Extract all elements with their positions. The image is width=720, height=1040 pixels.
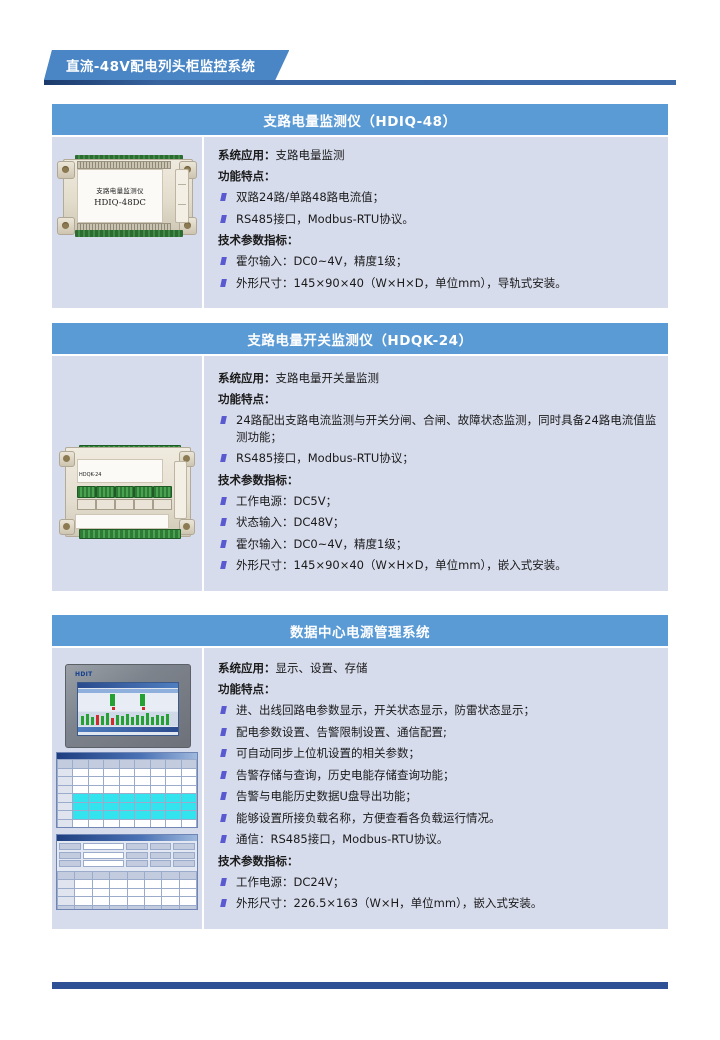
connector-2 <box>96 486 115 498</box>
spec-label: 系统应用：支路电量开关量监测 <box>218 370 658 386</box>
alarm-dot-left <box>112 707 115 710</box>
device-label-line2: HDIQ-48DC <box>94 198 146 208</box>
terminal-header-top <box>77 161 171 169</box>
section-text-hdqk-24: 系统应用：支路电量开关量监测 功能特点： 24路配出支路电流监测与开关分闸、合闸… <box>204 356 668 591</box>
bullet-icon <box>220 257 227 265</box>
brand-logo: HDIT <box>75 671 93 678</box>
bullet-icon <box>220 728 227 736</box>
screen-bargraph <box>78 712 178 726</box>
product-image-power-mgmt: HDIT <box>52 648 204 929</box>
dip-switch-5 <box>153 499 172 510</box>
spec-label: 功能特点： <box>218 168 658 184</box>
section-hdqk-24: 支路电量开关监测仪（HDQK-24） HDQK-24 <box>52 323 668 591</box>
list-item: RS485接口，Modbus-RTU协议； <box>218 450 658 467</box>
spec-label: 功能特点： <box>218 681 658 697</box>
spec-label: 系统应用：支路电量监测 <box>218 147 658 163</box>
page-banner: 直流-48V配电列头柜监控系统 <box>44 50 289 80</box>
connector-3 <box>115 486 134 498</box>
spec-label: 技术参数指标： <box>218 232 658 248</box>
screenshot-energy-table <box>56 752 198 828</box>
bullet-icon <box>220 279 227 287</box>
product-image-hdiq-48: 支路电量监测仪 HDIQ-48DC <box>52 137 204 308</box>
banner-title: 直流-48V配电列头柜监控系统 <box>44 50 289 80</box>
list-item: 双路24路/单路48路电流值； <box>218 189 658 206</box>
list-item: RS485接口，Modbus-RTU协议。 <box>218 211 658 228</box>
din-clip <box>175 169 189 223</box>
section-title: 支路电量监测仪（HDIQ-48） <box>52 104 668 135</box>
bullet-icon <box>220 792 227 800</box>
breaker-bar-right <box>140 694 145 706</box>
bullet-icon <box>220 878 227 886</box>
spec-label: 技术参数指标： <box>218 853 658 869</box>
section-hdiq-48: 支路电量监测仪（HDIQ-48） 支路电量监测仪 HDIQ-48DC <box>52 104 668 308</box>
device-faceplate-label: 支路电量监测仪 HDIQ-48DC <box>77 169 163 223</box>
bullet-icon <box>220 518 227 526</box>
list-item: 工作电源：DC5V； <box>218 493 658 510</box>
bullet-icon <box>220 416 227 424</box>
bullet-icon <box>220 835 227 843</box>
device-label-line1: 支路电量监测仪 <box>96 185 144 195</box>
list-item: 工作电源：DC24V； <box>218 874 658 891</box>
section-body: HDIT <box>52 646 668 929</box>
list-item: 外形尺寸：145×90×40（W×H×D，单位mm），嵌入式安装。 <box>218 557 658 574</box>
screenshot-form-panel <box>57 841 197 871</box>
list-item: 霍尔输入：DC0~4V，精度1级； <box>218 253 658 270</box>
bullet-icon <box>220 193 227 201</box>
spec-label: 功能特点： <box>218 391 658 407</box>
din-clip <box>174 461 187 519</box>
connector-5 <box>153 486 172 498</box>
dip-switch-3 <box>115 499 134 510</box>
device-bottom-label <box>75 514 169 529</box>
spec-label: 技术参数指标： <box>218 472 658 488</box>
bullet-icon <box>220 749 227 757</box>
bullet-icon <box>220 497 227 505</box>
footer-rule <box>52 982 668 989</box>
section-body: HDQK-24 系统应用：支路电量开关量监测 <box>52 354 668 591</box>
bullet-icon <box>220 706 227 714</box>
product-image-hdqk-24: HDQK-24 <box>52 356 204 591</box>
list-item: 通信：RS485接口，Modbus-RTU协议。 <box>218 831 658 848</box>
screenshot-settings-table <box>56 834 198 910</box>
connector-4 <box>134 486 153 498</box>
bullet-icon <box>220 899 227 907</box>
list-item: 进、出线回路电参数显示，开关状态显示，防雷状态显示； <box>218 702 658 719</box>
section-title: 支路电量开关监测仪（HDQK-24） <box>52 323 668 354</box>
mount-ear-tl <box>57 161 75 179</box>
list-item: 外形尺寸：226.5×163（W×H，单位mm），嵌入式安装。 <box>218 895 658 912</box>
bullet-icon <box>220 540 227 548</box>
bullet-icon <box>220 814 227 822</box>
dip-switch-2 <box>96 499 115 510</box>
mount-ear-bl <box>57 217 75 235</box>
bullet-icon <box>220 454 227 462</box>
spec-label: 系统应用：显示、设置、存储 <box>218 660 658 676</box>
mount-ear-bl <box>59 519 75 535</box>
table-row <box>57 871 197 911</box>
dip-switch-4 <box>134 499 153 510</box>
device-illustration: HDQK-24 <box>57 439 197 543</box>
pcb-bottom-strip <box>75 230 183 237</box>
alarm-dot-right <box>142 707 145 710</box>
banner-underline <box>44 80 676 85</box>
list-item: 告警与电能历史数据U盘导出功能； <box>218 788 658 805</box>
device-top-label <box>77 459 163 483</box>
bullet-icon <box>220 561 227 569</box>
list-item: 可自动同步上位机设置的相关参数； <box>218 745 658 762</box>
section-title: 数据中心电源管理系统 <box>52 615 668 646</box>
hmi-panel-illustration: HDIT <box>57 664 197 746</box>
device-illustration: 支路电量监测仪 HDIQ-48DC <box>57 147 197 243</box>
device-model-number: HDQK-24 <box>79 472 101 478</box>
hmi-screen <box>77 682 179 736</box>
list-item: 霍尔输入：DC0~4V，精度1级； <box>218 536 658 553</box>
section-text-power-mgmt: 系统应用：显示、设置、存储 功能特点： 进、出线回路电参数显示，开关状态显示，防… <box>204 648 668 929</box>
page-root: 直流-48V配电列头柜监控系统 支路电量监测仪（HDIQ-48） 支路电量监测仪 <box>0 0 720 1040</box>
mount-ear-tl <box>59 451 75 467</box>
list-item: 告警存储与查询，历史电能存储查询功能； <box>218 767 658 784</box>
mount-ear-br <box>179 519 195 535</box>
dip-switch-1 <box>77 499 96 510</box>
list-item: 24路配出支路电流监测与开关分闸、合闸、故障状态监测，同时具备24路电流值监测功… <box>218 412 658 445</box>
screen-diagram <box>78 693 178 711</box>
section-body: 支路电量监测仪 HDIQ-48DC 系统应用：支路电量监测 功能特点： 双路24… <box>52 135 668 308</box>
bullet-icon <box>220 215 227 223</box>
list-item: 状态输入：DC48V； <box>218 514 658 531</box>
section-power-mgmt: 数据中心电源管理系统 HDIT <box>52 615 668 929</box>
breaker-bar-left <box>110 694 115 706</box>
list-item: 能够设置所接负载名称，方便查看各负载运行情况。 <box>218 810 658 827</box>
list-item: 外形尺寸：145×90×40（W×H×D，单位mm），导轨式安装。 <box>218 275 658 292</box>
section-text-hdiq-48: 系统应用：支路电量监测 功能特点： 双路24路/单路48路电流值； RS485接… <box>204 137 668 308</box>
screen-titlebar <box>78 683 178 688</box>
bullet-icon <box>220 771 227 779</box>
table-row <box>57 759 197 828</box>
connector-1 <box>77 486 96 498</box>
list-item: 配电参数设置、告警限制设置、通信配置; <box>218 724 658 741</box>
screen-buttonbar <box>78 727 178 732</box>
terminal-block-bottom <box>79 529 181 539</box>
